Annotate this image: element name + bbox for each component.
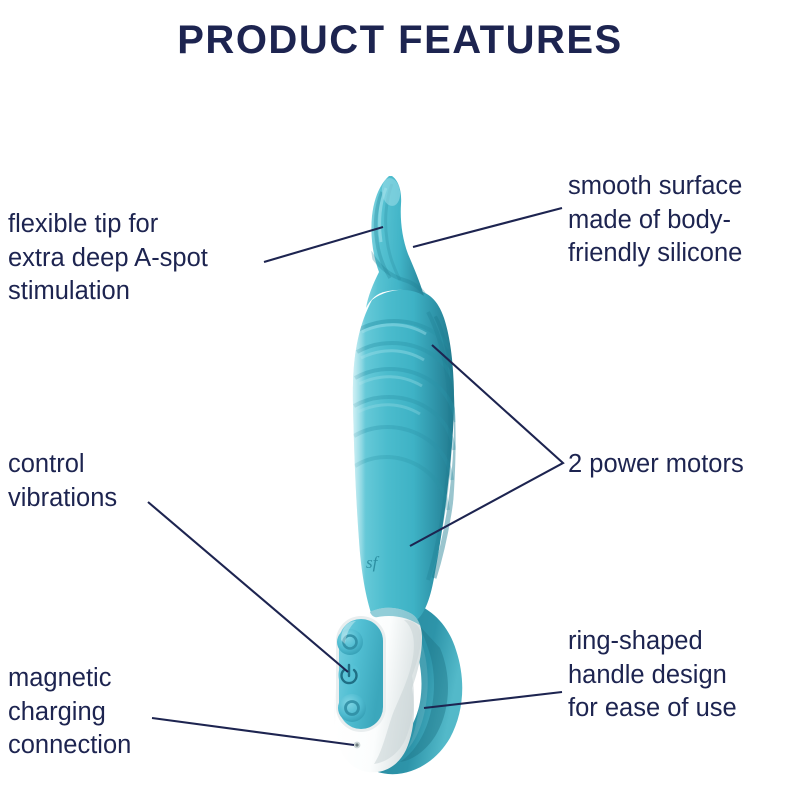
increase-button[interactable]: [337, 629, 363, 655]
decrease-button[interactable]: [338, 694, 366, 722]
flexible-tip: [366, 176, 424, 308]
callout-power-motors: 2 power motors: [568, 448, 800, 482]
magnetic-charging-contact: [354, 742, 361, 749]
control-pad: [336, 616, 386, 732]
callout-smooth-surface: smooth surface made of body- friendly si…: [568, 170, 800, 271]
callout-magnetic-charging: magnetic charging connection: [8, 662, 238, 763]
product-shaft: sf: [350, 289, 458, 630]
product-features-infographic: PRODUCT FEATURES: [0, 0, 800, 800]
callout-control-vibrations: control vibrations: [8, 448, 238, 515]
callout-ring-handle: ring-shaped handle design for ease of us…: [568, 625, 800, 726]
power-button[interactable]: [338, 664, 360, 686]
callout-flexible-tip: flexible tip for extra deep A-spot stimu…: [8, 208, 288, 309]
